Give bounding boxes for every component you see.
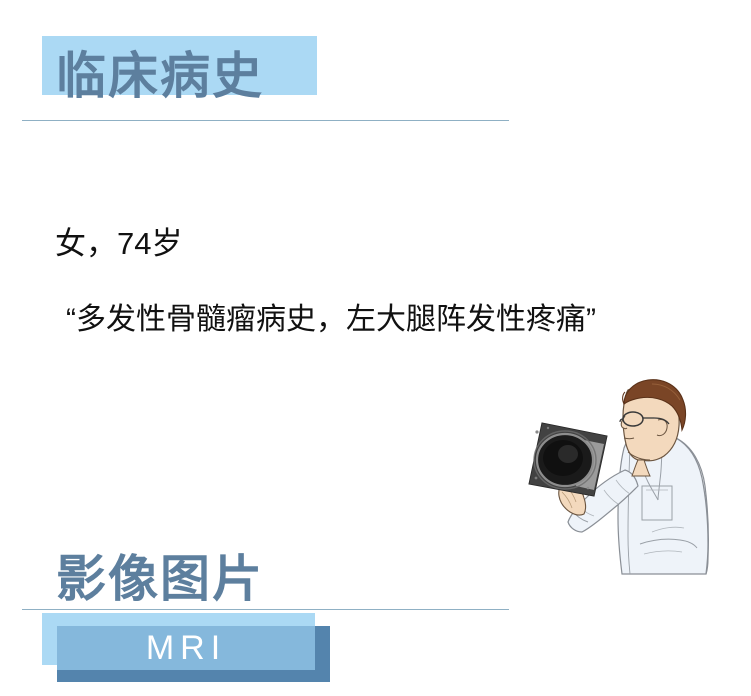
- imaging-divider: [22, 609, 509, 610]
- mri-modality-label: MRI: [57, 626, 315, 670]
- patient-chief-complaint: “多发性骨髓瘤病史，左大腿阵发性疼痛”: [66, 300, 596, 340]
- clinical-history-heading: 临床病史: [56, 48, 264, 104]
- imaging-heading: 影像图片: [56, 551, 264, 607]
- clinical-history-divider: [22, 120, 509, 121]
- doctor-illustration: [512, 368, 751, 636]
- slide-canvas: 临床病史 女，74岁 “多发性骨髓瘤病史，左大腿阵发性疼痛”: [0, 0, 751, 696]
- doctor-holding-film-icon: [512, 368, 751, 636]
- patient-demographics: 女，74岁: [55, 224, 182, 264]
- mri-film-image: [529, 423, 607, 496]
